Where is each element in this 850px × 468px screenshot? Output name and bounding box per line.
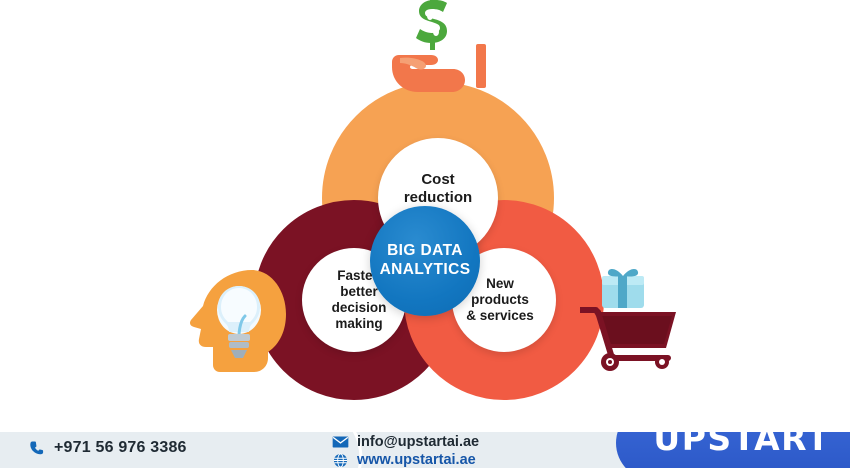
envelope-icon	[332, 435, 349, 450]
phone-number-text: +971 56 976 3386	[54, 439, 187, 457]
shopping-cart-gift-icon	[580, 262, 684, 374]
footer-contact-bar: +971 56 976 3386 info@upstartai.ae	[0, 432, 850, 468]
center-badge-line-1: BIG DATA	[380, 242, 471, 261]
center-badge-line-2: ANALYTICS	[380, 261, 471, 280]
contact-website[interactable]: www.upstartai.ae	[332, 452, 476, 468]
new-products-line-2: products	[466, 292, 534, 308]
logo-wordmark: UPSTART	[653, 432, 830, 458]
website-text: www.upstartai.ae	[357, 452, 476, 468]
infographic-page: Cost reduction Faster, better decision m…	[0, 0, 850, 468]
email-text: info@upstartai.ae	[357, 434, 479, 450]
new-products-line-3: & services	[466, 308, 534, 324]
venn-diagram-graphic: Cost reduction Faster, better decision m…	[0, 0, 850, 432]
upstart-logo[interactable]: UPSTART	[616, 432, 850, 468]
contact-email[interactable]: info@upstartai.ae	[332, 434, 479, 450]
globe-icon	[332, 453, 349, 468]
lightbulb-head-icon	[182, 266, 286, 372]
phone-icon	[28, 441, 45, 456]
contact-phone[interactable]: +971 56 976 3386	[28, 439, 187, 457]
cost-reduction-line-1: Cost	[404, 171, 472, 189]
contact-web-block: info@upstartai.ae www.upstartai.ae	[332, 434, 479, 468]
money-in-hand-icon	[386, 0, 492, 94]
cost-reduction-line-2: reduction	[404, 189, 472, 207]
faster-decisions-line-4: making	[332, 316, 387, 332]
faster-decisions-line-3: decision	[332, 300, 387, 316]
center-badge-big-data-analytics: BIG DATA ANALYTICS	[370, 206, 480, 316]
